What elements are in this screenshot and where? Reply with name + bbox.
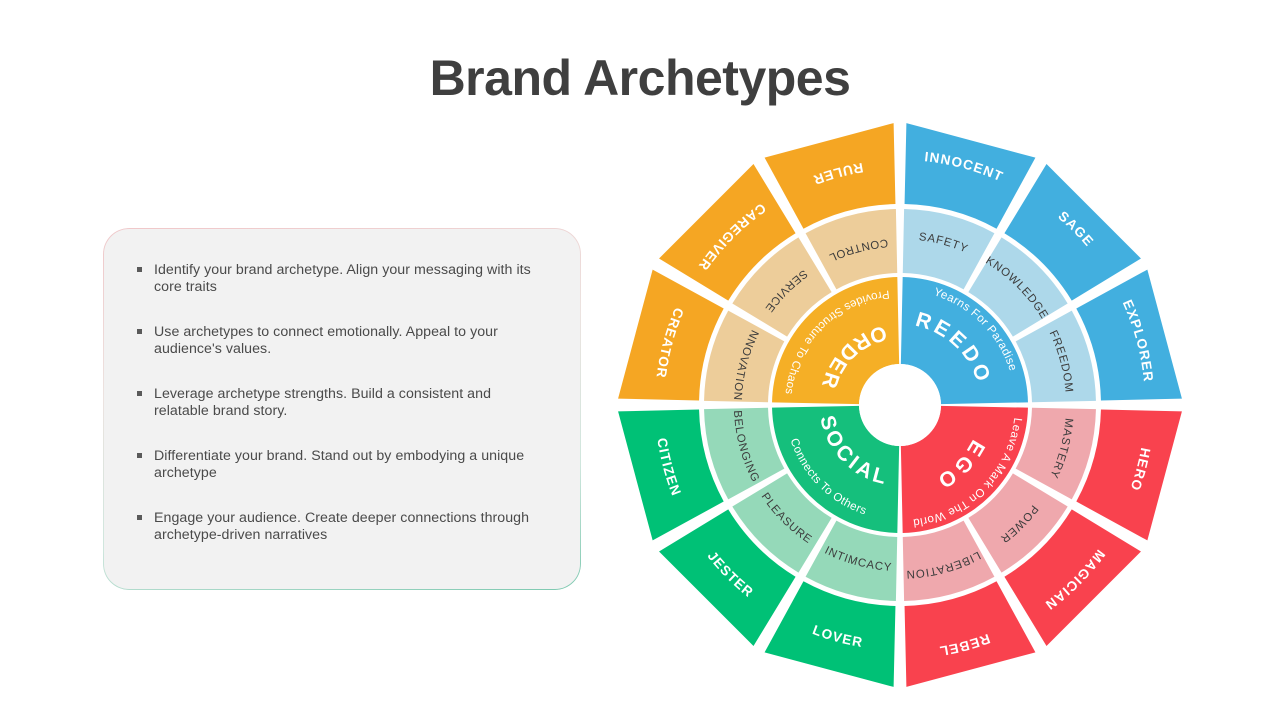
list-item: Differentiate your brand. Stand out by e… [137, 448, 541, 481]
bullet-list: Identify your brand archetype. Align you… [137, 262, 541, 543]
list-item: Leverage archetype strengths. Build a co… [137, 386, 541, 419]
wheel-svg: CREATORINNOVATIONCAREGIVERSERVICERULERCO… [615, 118, 1185, 693]
list-item: Identify your brand archetype. Align you… [137, 262, 541, 295]
list-item: Engage your audience. Create deeper conn… [137, 510, 541, 543]
wheel-center-hub [859, 364, 941, 446]
page-title: Brand Archetypes [0, 48, 1280, 108]
list-item: Use archetypes to connect emotionally. A… [137, 324, 541, 357]
brand-archetypes-wheel: CREATORINNOVATIONCAREGIVERSERVICERULERCO… [615, 118, 1185, 693]
key-takeaways-card: Identify your brand archetype. Align you… [103, 228, 581, 590]
